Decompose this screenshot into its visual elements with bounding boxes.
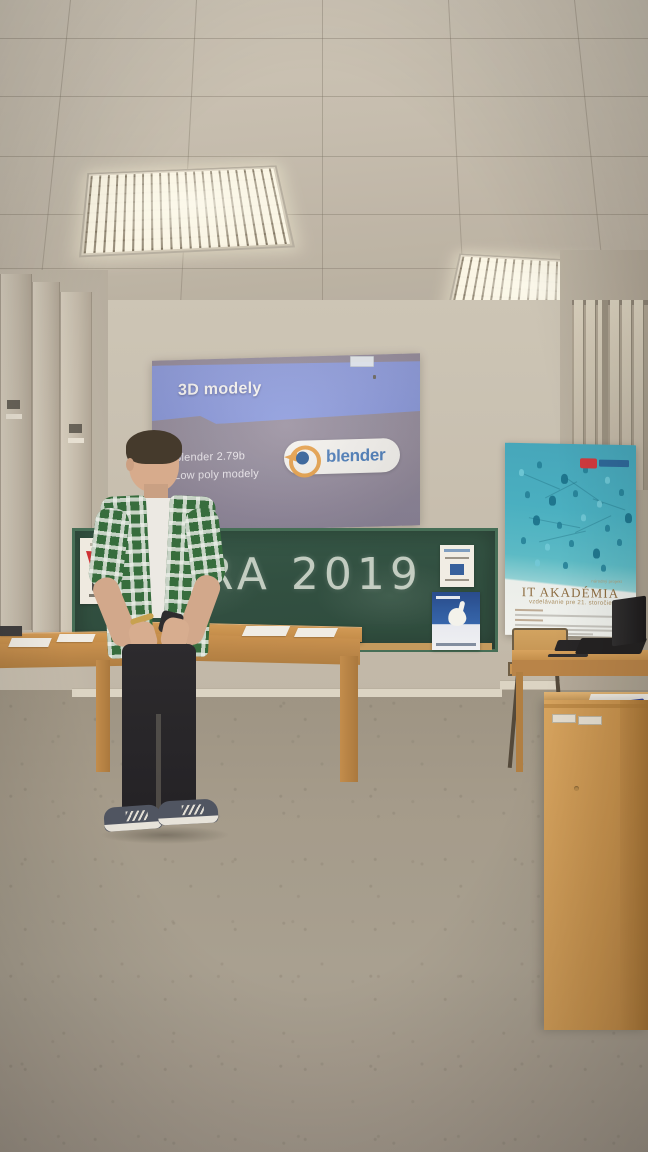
laptop-screen[interactable]	[612, 596, 646, 647]
screen-label-sticker	[350, 356, 374, 367]
shoe-right	[157, 798, 218, 825]
cable	[547, 654, 588, 657]
poster-right-small	[440, 545, 474, 587]
classroom-photo: 3D modely Blender 2.79b Low poly modely …	[0, 0, 648, 1152]
banner-logo	[580, 458, 630, 469]
cabinet-knob[interactable]	[574, 786, 579, 791]
poster-right-small-logo	[450, 564, 464, 575]
ear	[126, 458, 134, 471]
shoe-left	[103, 804, 163, 832]
paper-sheet	[0, 626, 22, 636]
paper-sheet	[294, 628, 338, 637]
podium-edge	[544, 704, 648, 708]
wall-mark-dot	[373, 375, 376, 379]
teacher-desk-apron	[512, 660, 648, 676]
bird-illustration-icon	[446, 606, 467, 627]
banner-kicker: národný projekt	[591, 578, 622, 584]
poster-right-large	[432, 592, 480, 650]
drawer-label-holder[interactable]	[552, 714, 576, 723]
presenter	[86, 434, 236, 844]
paper-sheet	[8, 638, 52, 647]
ceiling-light-fixture-left	[79, 165, 295, 257]
drawer-label-holder[interactable]	[578, 716, 602, 725]
cabinet-left-1	[0, 274, 32, 630]
paper-sheet	[242, 626, 290, 636]
cabinet-left-2	[32, 282, 60, 632]
teacher-desk-leg	[516, 672, 523, 772]
hair	[126, 430, 182, 464]
podium-side-panel	[620, 700, 648, 1030]
baseboard-right	[500, 680, 560, 689]
student-desk-front-leg-right	[340, 656, 358, 782]
